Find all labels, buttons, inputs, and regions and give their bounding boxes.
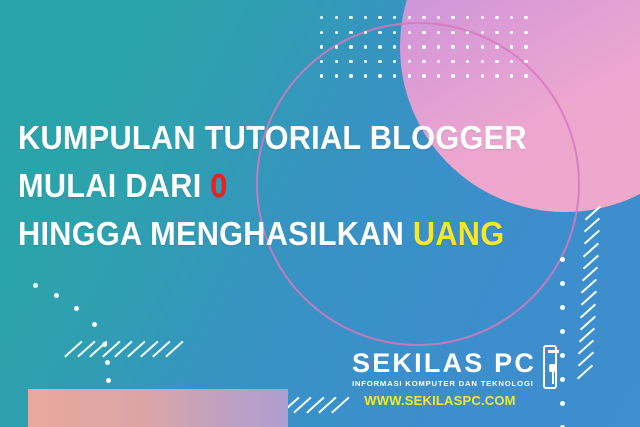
brand-logo: SEKILAS PC INFORMASI KOMPUTER DAN TEKNOL… [352,349,557,409]
grid-dot [364,16,367,19]
grid-dot [510,16,513,19]
grid-dot [510,74,513,77]
arc-dot [108,414,113,419]
hatch-line [583,242,599,257]
grid-dot [378,74,381,77]
grid-dot [437,60,440,63]
grid-dot [422,74,425,77]
grid-dot [393,16,396,19]
grid-dot [422,16,425,19]
headline-text-1: KUMPULAN TUTORIAL BLOGGER [18,119,527,156]
hatch-line [165,341,184,358]
grid-dot [320,60,323,63]
grid-dot [481,16,484,19]
grid-dot [437,45,440,48]
hatch-line [579,328,595,343]
arc-dot [107,396,112,401]
column-dot [560,377,565,382]
headline-accent-uang: UANG [413,215,504,252]
hatch-line [579,315,595,330]
grid-dot [466,16,469,19]
grid-dot [524,74,527,77]
grid-dot [408,60,411,63]
logo-tagline: INFORMASI KOMPUTER DAN TEKNOLOGI [352,378,540,389]
hatch-line [584,218,600,233]
hatch-line [319,397,338,414]
grid-dot [495,16,498,19]
grid-dot [378,16,381,19]
grid-dot [393,45,396,48]
grid-dot [349,31,352,34]
pc-tower-stem [552,367,554,384]
headline-line-2: MULAI DARI 0 [18,162,409,210]
pink-rectangle-decoration [28,389,288,427]
column-dot [560,305,565,310]
grid-dot [510,31,513,34]
grid-dot [335,45,338,48]
hatch-line [293,397,312,414]
headline-accent-zero: 0 [210,167,227,204]
grid-dot [422,31,425,34]
hatch-line [584,230,600,245]
grid-dot [393,60,396,63]
grid-dot [320,74,323,77]
hatch-line [268,397,287,414]
grid-dot [393,31,396,34]
dot-grid-decoration [320,16,536,82]
hatch-line [582,267,598,282]
hatch-line [306,397,325,414]
column-dot [560,257,565,262]
hatch-line [582,254,598,269]
arc-dot [92,322,97,327]
grid-dot [495,45,498,48]
grid-dot [466,60,469,63]
hatch-line [218,397,237,414]
hatch-line [578,352,594,367]
headline-line-1: KUMPULAN TUTORIAL BLOGGER [18,114,409,162]
column-dot [560,401,565,406]
grid-dot [481,31,484,34]
grid-dot [451,74,454,77]
arc-dot [54,293,59,298]
grid-dot [408,16,411,19]
column-dot [560,353,565,358]
grid-dot [378,45,381,48]
column-dot [560,281,565,286]
grid-dot [364,74,367,77]
hatch-line [102,341,121,358]
hatch-line [205,397,224,414]
hatch-line [256,397,275,414]
grid-dot [524,31,527,34]
hatch-line [581,279,597,294]
grid-dot [422,60,425,63]
grid-dot [451,16,454,19]
grid-dot [408,45,411,48]
grid-dot [364,60,367,63]
grid-dot [320,31,323,34]
grid-dot [408,31,411,34]
pc-tower-slot [548,350,559,353]
grid-dot [495,74,498,77]
arc-dot [74,306,79,311]
grid-dot [437,31,440,34]
hatch-line [140,341,159,358]
hatch-line [243,397,262,414]
headline-text-3: HINGGA MENGHASILKAN [18,215,413,252]
grid-dot [393,74,396,77]
logo-text-wrap: SEKILAS PC INFORMASI KOMPUTER DAN TEKNOL… [352,349,536,389]
hatch-line [331,397,350,414]
grid-dot [320,45,323,48]
hatch-line [230,397,249,414]
logo-website-url: WWW.SEKILASPC.COM [352,393,528,409]
grid-dot [364,31,367,34]
grid-dot [422,45,425,48]
hatch-line [578,340,594,355]
hatch-line [89,341,108,358]
grid-dot [495,60,498,63]
hatch-line [281,397,300,414]
grid-dot [320,16,323,19]
grid-dot [335,60,338,63]
grid-dot [335,31,338,34]
grid-dot [378,31,381,34]
grid-dot [349,74,352,77]
grid-dot [524,16,527,19]
grid-dot [335,16,338,19]
grid-dot [466,45,469,48]
grid-dot [437,16,440,19]
hatch-line [585,206,601,221]
column-dot [560,329,565,334]
grid-dot [349,60,352,63]
hatch-line [577,364,593,379]
grid-dot [451,31,454,34]
grid-dot [437,74,440,77]
grid-dot [378,60,381,63]
grid-dot [349,45,352,48]
grid-dot [510,45,513,48]
grid-dot [495,31,498,34]
grid-dot [466,31,469,34]
hatch-line [127,341,146,358]
grid-dot [510,60,513,63]
hatch-line [115,341,134,358]
grid-dot [451,45,454,48]
headline-text-2: MULAI DARI [18,167,210,204]
hatch-line [77,341,96,358]
hatch-line [580,303,596,318]
headline-block: KUMPULAN TUTORIAL BLOGGER MULAI DARI 0 H… [18,114,438,258]
grid-dot [524,45,527,48]
grid-dot [408,74,411,77]
arc-dot [106,378,111,383]
grid-dot [364,45,367,48]
logo-wordmark: SEKILAS PC [352,349,536,377]
hatch-line [581,291,597,306]
grid-dot [466,74,469,77]
grid-dot [481,45,484,48]
grid-dot [481,74,484,77]
grid-dot [524,60,527,63]
pc-tower-icon [543,345,557,389]
arc-dot [102,342,107,347]
headline-line-3: HINGGA MENGHASILKAN UANG [18,210,409,258]
logo-row: SEKILAS PC INFORMASI KOMPUTER DAN TEKNOL… [352,349,557,389]
arc-dot [105,360,110,365]
promo-banner: KUMPULAN TUTORIAL BLOGGER MULAI DARI 0 H… [0,0,640,427]
grid-dot [481,60,484,63]
grid-dot [335,74,338,77]
arc-dot [33,283,38,288]
hatch-line [64,341,83,358]
hatch-line [152,341,171,358]
grid-dot [349,16,352,19]
grid-dot [451,60,454,63]
